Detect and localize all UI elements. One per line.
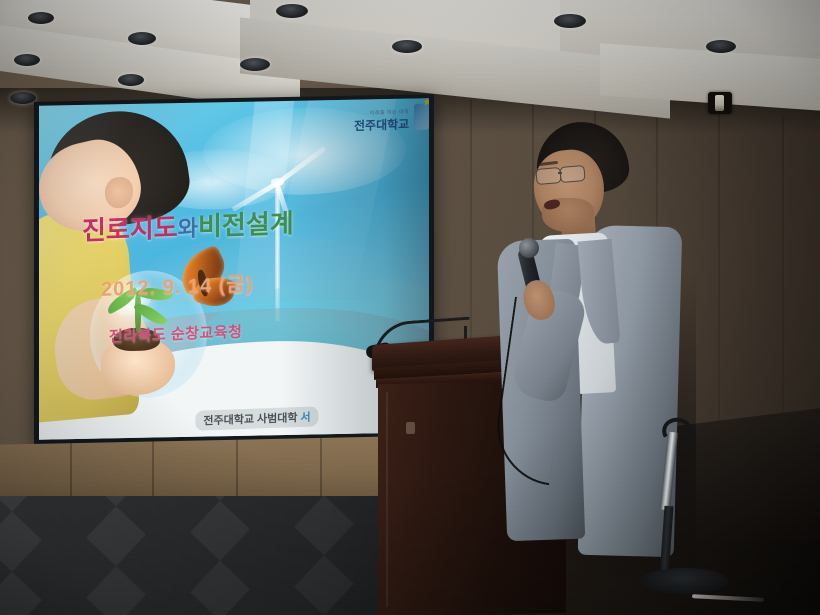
ceiling-downlight — [14, 54, 40, 66]
ceiling-downlight — [392, 40, 422, 53]
slide-date: 2012. 9. 14 (금) — [101, 267, 253, 302]
ceiling-downlight — [28, 12, 54, 24]
eyeglasses-left-lens — [535, 167, 561, 185]
eyeglasses-bridge — [558, 172, 562, 174]
mic-stand-lower-pole — [659, 506, 673, 578]
mic-stand-clip — [658, 414, 697, 451]
slide-title: 진로지도와비전설계 — [82, 203, 294, 248]
star-icon: ★ — [423, 98, 429, 108]
slide-title-part1: 진로지도 — [82, 212, 178, 246]
slide-surface: 진로지도와비전설계 2012. 9. 14 (금) 전라북도 순창교육청 전주대… — [39, 98, 429, 439]
ceiling-downlight — [128, 32, 156, 45]
ceiling-downlight — [10, 92, 36, 104]
boy-ear — [105, 177, 132, 208]
eyeglasses-right-lens — [559, 165, 585, 183]
ceiling-downlight — [276, 4, 308, 18]
wall-speaker-panel-icon — [708, 92, 732, 114]
microphone-stand — [640, 418, 750, 615]
ceiling-downlight — [554, 14, 586, 28]
podium-emblem — [406, 422, 415, 434]
podium-edge — [386, 392, 388, 607]
ceiling-downlight — [240, 58, 270, 71]
slide-title-connector: 와 — [178, 215, 198, 241]
wind-turbine-blade — [276, 147, 326, 186]
ceiling-downlight — [706, 40, 736, 53]
slide-footer-secondary: 서 — [301, 412, 311, 424]
ceiling-downlight — [118, 74, 144, 86]
dado-seam — [320, 438, 322, 504]
logo-name: 전주대학교 — [354, 115, 409, 134]
wall-panel-lamp — [715, 95, 724, 111]
slide-title-part2: 비전설계 — [198, 208, 294, 242]
mic-stand-base — [640, 568, 728, 594]
mic-stand-upper-pole — [660, 432, 678, 511]
university-logo: 미래를 여는 대학 전주대학교 ★ — [354, 108, 409, 134]
photo-scene: 진로지도와비전설계 2012. 9. 14 (금) 전라북도 순창교육청 전주대… — [0, 0, 820, 615]
slide-footer-primary: 전주대학교 사범대학 — [204, 412, 298, 427]
